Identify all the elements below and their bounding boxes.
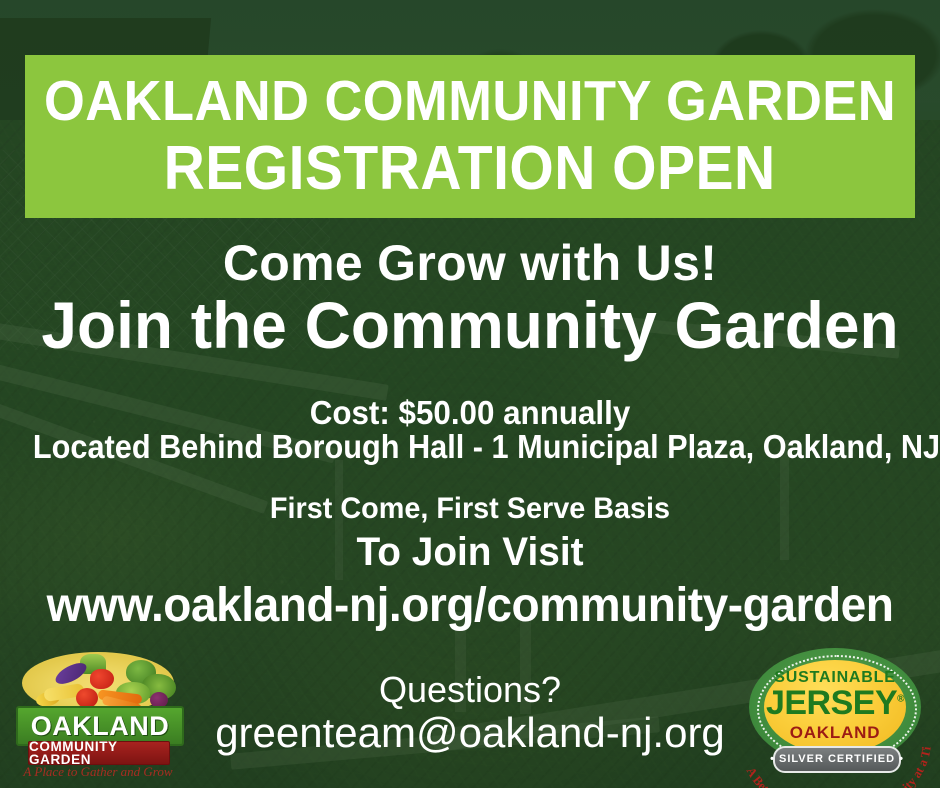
badge-certification-text: • SILVER CERTIFIED • <box>770 754 904 765</box>
badge-municipality-text: OAKLAND <box>764 724 906 741</box>
logo-community-garden-bar: COMMUNITY GARDEN <box>28 741 170 765</box>
detail-cost: Cost: $50.00 annually <box>24 396 917 429</box>
registered-trademark-icon: ® <box>897 694 904 705</box>
subhead-come-grow: Come Grow with Us! <box>0 238 940 288</box>
detail-location: Located Behind Borough Hall - 1 Municipa… <box>33 430 907 463</box>
registration-url-link[interactable]: www.oakland-nj.org/community-garden <box>19 582 921 630</box>
headline-line-1: OAKLAND COMMUNITY GARDEN <box>44 73 896 130</box>
subhead-join-community-garden: Join the Community Garden <box>14 292 926 358</box>
tomato-icon <box>76 688 98 708</box>
headline-line-2: REGISTRATION OPEN <box>164 138 776 200</box>
detail-first-come-basis: First Come, First Serve Basis <box>19 494 921 524</box>
logo-tagline: A Place to Gather and Grow <box>8 765 188 778</box>
headline-banner: OAKLAND COMMUNITY GARDEN REGISTRATION OP… <box>25 55 915 218</box>
badge-jersey-word: JERSEY <box>766 684 897 722</box>
sustainable-jersey-badge: SUSTAINABLE JERSEY® OAKLAND • SILVER CER… <box>735 648 935 788</box>
badge-certification-pill: • SILVER CERTIFIED • <box>773 746 901 773</box>
vegetable-basket-icon <box>22 652 174 714</box>
detail-to-join-visit: To Join Visit <box>14 532 926 572</box>
badge-jersey-text: JERSEY® <box>764 686 906 720</box>
pepper-icon <box>90 669 114 689</box>
logo-community-garden-text: COMMUNITY GARDEN <box>29 740 169 767</box>
oakland-community-garden-logo: OAKLAND COMMUNITY GARDEN A Place to Gath… <box>8 646 188 786</box>
flyer-content: OAKLAND COMMUNITY GARDEN REGISTRATION OP… <box>0 0 940 788</box>
community-garden-flyer: OAKLAND COMMUNITY GARDEN REGISTRATION OP… <box>0 0 940 788</box>
logo-oakland-text: OAKLAND <box>31 713 170 740</box>
